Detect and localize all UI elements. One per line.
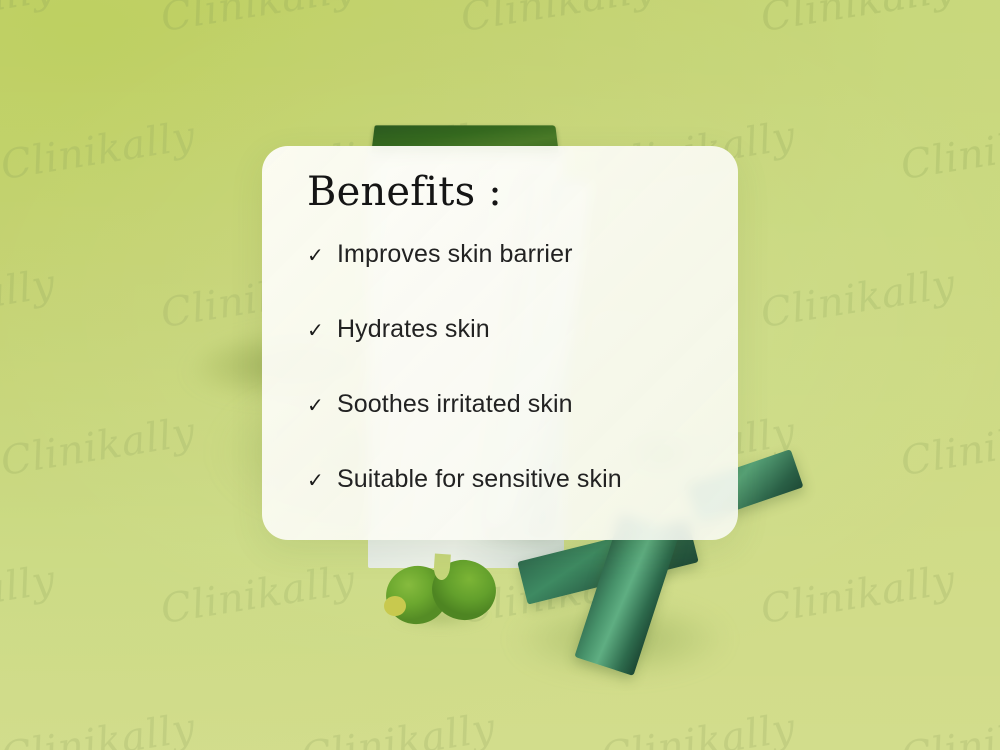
benefits-card: Benefits : ✓Improves skin barrier✓Hydrat… <box>262 146 738 540</box>
benefit-item: ✓Soothes irritated skin <box>307 392 727 467</box>
check-icon: ✓ <box>307 470 325 490</box>
benefit-label: Improves skin barrier <box>337 242 573 267</box>
benefit-label: Suitable for sensitive skin <box>337 467 622 492</box>
product-benefits-banner: ClinikallyClinikallyClinikallyClinikally… <box>0 0 1000 750</box>
benefit-item: ✓Suitable for sensitive skin <box>307 467 727 540</box>
check-icon: ✓ <box>307 245 325 265</box>
benefit-item: ✓Improves skin barrier <box>307 242 727 317</box>
benefits-card-content: Benefits : ✓Improves skin barrier✓Hydrat… <box>262 146 738 540</box>
leaf-tip <box>384 596 406 616</box>
benefit-item: ✓Hydrates skin <box>307 317 727 392</box>
check-icon: ✓ <box>307 320 325 340</box>
benefit-label: Soothes irritated skin <box>337 392 573 417</box>
benefit-label: Hydrates skin <box>337 317 490 342</box>
centella-leaf <box>384 558 496 628</box>
benefits-list: ✓Improves skin barrier✓Hydrates skin✓Soo… <box>307 242 727 540</box>
benefits-heading: Benefits : <box>307 170 502 214</box>
check-icon: ✓ <box>307 395 325 415</box>
